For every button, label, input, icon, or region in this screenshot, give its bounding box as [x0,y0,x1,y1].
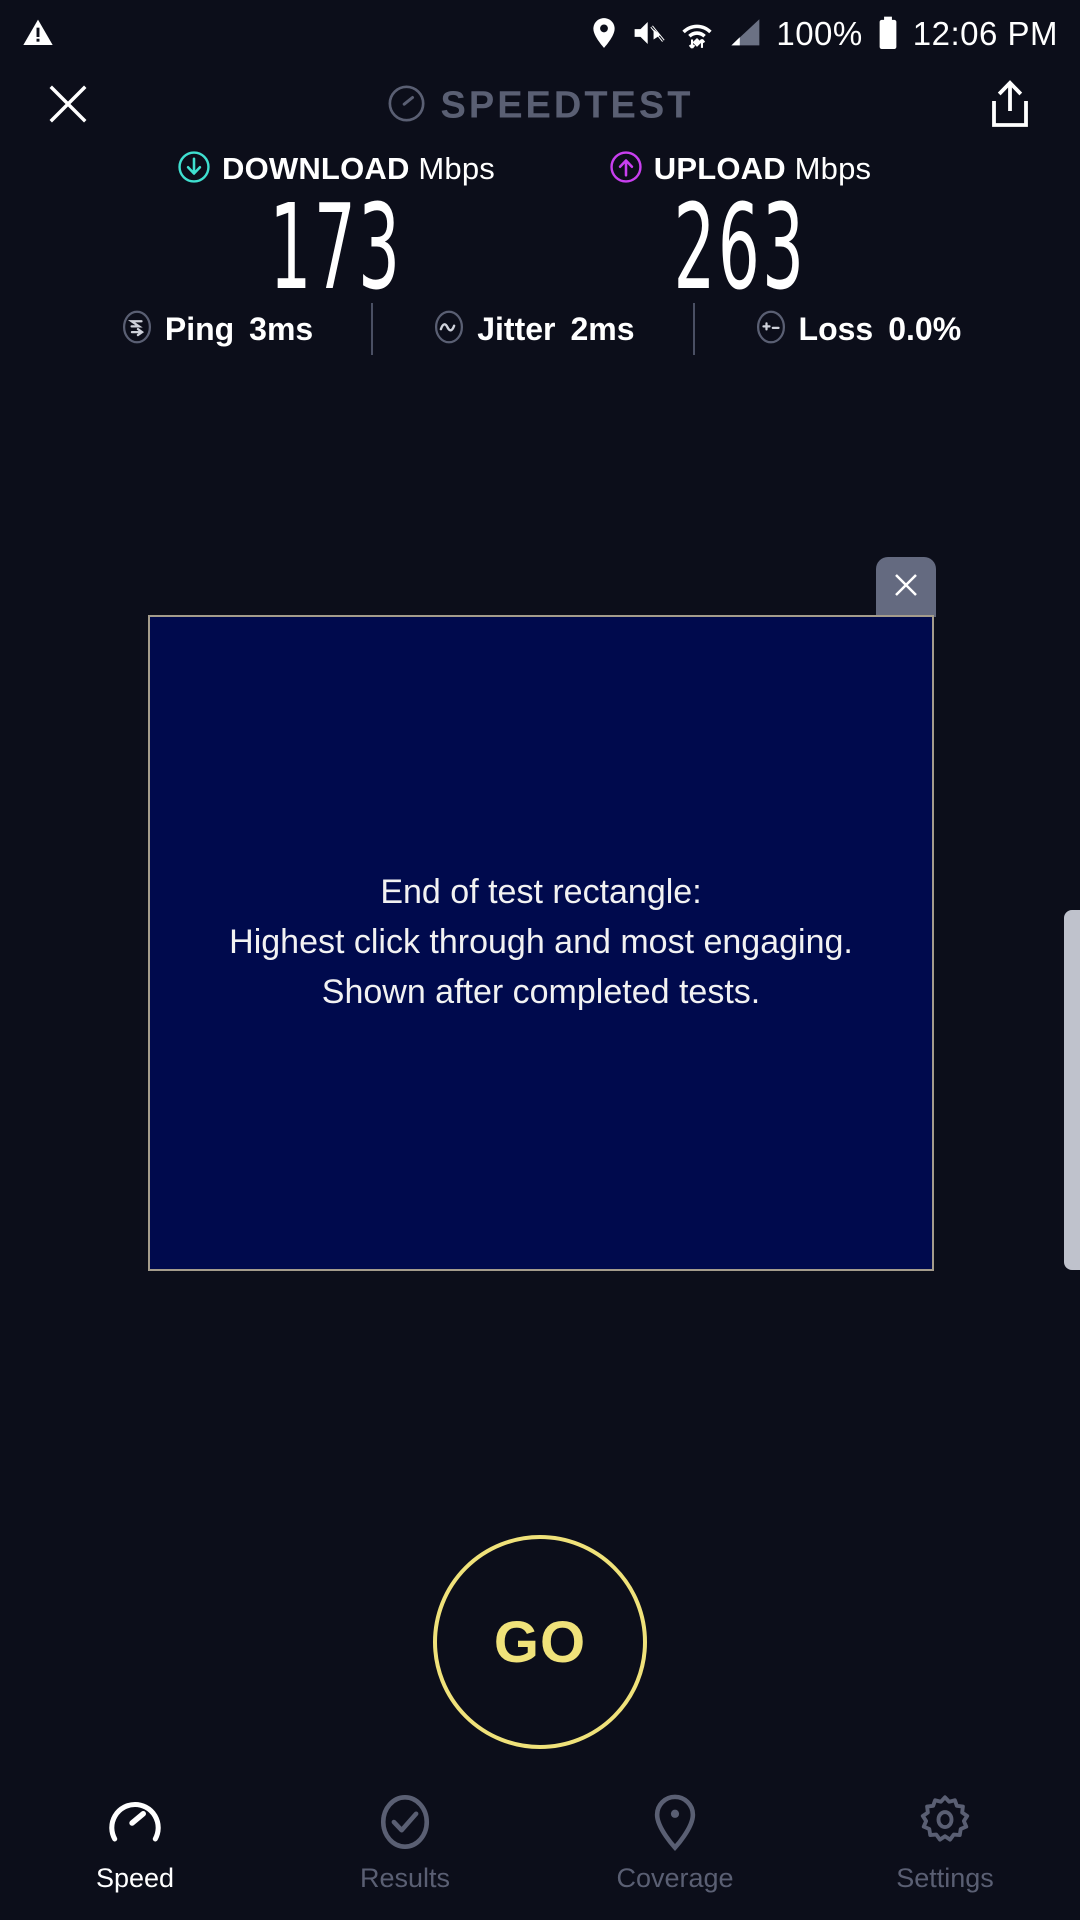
network-metrics-row: Ping 3ms Jitter 2ms [0,300,1080,358]
download-value: 173 [221,188,452,306]
advertisement-container: End of test rectangle: Highest click thr… [148,615,934,1271]
check-circle-icon [376,1791,434,1853]
download-result: DOWNLOAD Mbps 173 [150,146,540,306]
wifi-icon [680,16,714,50]
metric-divider-2 [693,303,695,355]
nav-label-coverage: Coverage [616,1863,733,1894]
nav-label-settings: Settings [896,1863,994,1894]
metric-loss: Loss 0.0% [753,300,962,358]
rate-row: DOWNLOAD Mbps 173 UPLOAD Mbps 263 [0,146,1080,306]
location-pin-icon [590,17,618,49]
map-pin-icon [646,1791,704,1853]
metric-ping: Ping 3ms [119,300,313,358]
status-bar-right: 100% 12:06 PM [590,16,1058,50]
scrollbar-thumb[interactable] [1064,910,1080,1270]
speed-results: DOWNLOAD Mbps 173 UPLOAD Mbps 263 [0,146,1080,306]
loss-value: 0.0% [888,311,961,348]
battery-full-icon [877,16,899,50]
jitter-icon [431,309,467,350]
nav-label-results: Results [360,1863,450,1894]
download-arrow-icon [177,150,211,189]
speedtest-app-screen: 100% 12:06 PM [0,0,1080,1920]
clock-label: 12:06 PM [913,17,1058,50]
close-button[interactable] [38,76,98,136]
speedometer-icon [387,84,427,129]
status-bar: 100% 12:06 PM [0,0,1080,66]
volume-mute-icon [632,17,666,49]
ad-text: End of test rectangle: Highest click thr… [219,868,863,1018]
metric-jitter: Jitter 2ms [431,300,634,358]
ping-icon [119,309,155,350]
speedometer-icon [106,1791,164,1853]
cell-signal-icon [728,18,762,48]
brand-logo: SPEEDTEST [387,84,694,129]
bottom-navigation-bar: Speed Results Coverage [0,1785,1080,1920]
nav-item-results[interactable]: Results [270,1791,540,1894]
gear-icon [916,1791,974,1853]
jitter-label: Jitter [477,311,555,348]
close-icon [45,81,91,132]
ad-close-icon [891,570,921,605]
go-button[interactable]: GO [433,1535,647,1749]
ping-value: 3ms [249,311,313,348]
loss-label: Loss [799,311,874,348]
loss-icon [753,309,789,350]
status-bar-left [22,17,54,49]
nav-item-settings[interactable]: Settings [810,1791,1080,1894]
battery-percent-label: 100% [776,17,862,50]
brand-title: SPEEDTEST [441,85,694,128]
go-button-label: GO [494,1609,586,1676]
upload-result: UPLOAD Mbps 263 [540,146,930,306]
advertisement-banner[interactable]: End of test rectangle: Highest click thr… [148,615,934,1271]
warning-icon [22,17,54,49]
nav-item-coverage[interactable]: Coverage [540,1791,810,1894]
share-button[interactable] [982,76,1038,136]
share-icon [988,80,1032,133]
ad-close-button[interactable] [876,557,936,617]
metric-divider-1 [371,303,373,355]
upload-value: 263 [622,188,858,306]
app-header: SPEEDTEST [0,66,1080,146]
nav-item-speed[interactable]: Speed [0,1791,270,1894]
upload-arrow-icon [609,150,643,189]
nav-label-speed: Speed [96,1863,174,1894]
jitter-value: 2ms [570,311,634,348]
scrollbar-track [1064,910,1080,1290]
ping-label: Ping [165,311,234,348]
